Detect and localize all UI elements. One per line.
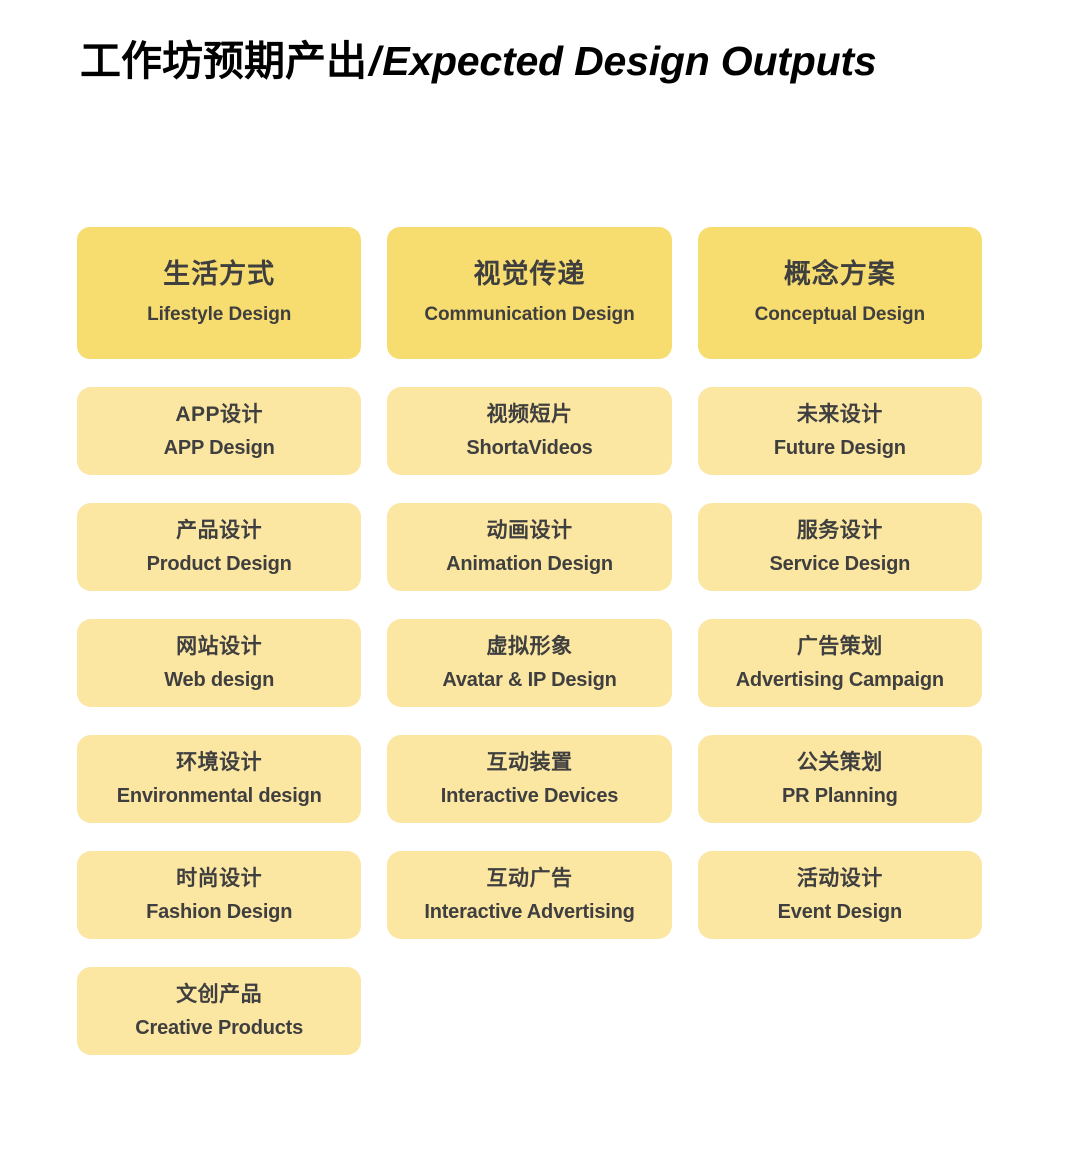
column-lifestyle-design: 生活方式 Lifestyle Design APP设计 APP Design 产… [77, 227, 361, 1055]
output-card-web-design[interactable]: 网站设计 Web design [77, 619, 361, 707]
output-card-creative-products[interactable]: 文创产品 Creative Products [77, 967, 361, 1055]
card-title-en: Environmental design [117, 785, 322, 807]
card-title-zh: APP设计 [175, 403, 263, 426]
card-title-zh: 动画设计 [486, 519, 572, 542]
output-card-event-design[interactable]: 活动设计 Event Design [698, 851, 982, 939]
column-header-card-lifestyle[interactable]: 生活方式 Lifestyle Design [77, 227, 361, 359]
card-title-zh: 视频短片 [486, 403, 572, 426]
output-card-service-design[interactable]: 服务设计 Service Design [698, 503, 982, 591]
output-card-animation-design[interactable]: 动画设计 Animation Design [387, 503, 671, 591]
card-title-en: Avatar & IP Design [442, 669, 616, 691]
card-title-en: Future Design [774, 437, 906, 459]
card-title-en: PR Planning [782, 785, 898, 807]
page-title-en: Expected Design Outputs [382, 38, 876, 84]
card-title-en: Advertising Campaign [736, 669, 944, 691]
column-header-card-communication[interactable]: 视觉传递 Communication Design [387, 227, 671, 359]
card-title-zh: 网站设计 [176, 635, 262, 658]
card-title-zh: 广告策划 [797, 635, 883, 658]
output-card-future-design[interactable]: 未来设计 Future Design [698, 387, 982, 475]
card-title-en: Creative Products [135, 1017, 303, 1039]
page-title-zh: 工作坊预期产出 [80, 38, 367, 84]
output-card-interactive-advertising[interactable]: 互动广告 Interactive Advertising [387, 851, 671, 939]
output-card-avatar-ip-design[interactable]: 虚拟形象 Avatar & IP Design [387, 619, 671, 707]
output-card-app-design[interactable]: APP设计 APP Design [77, 387, 361, 475]
card-title-zh: 公关策划 [797, 751, 883, 774]
card-title-en: Fashion Design [146, 901, 292, 923]
output-card-product-design[interactable]: 产品设计 Product Design [77, 503, 361, 591]
card-title-en: APP Design [164, 437, 275, 459]
card-title-zh: 互动广告 [486, 867, 572, 890]
card-title-zh: 视觉传递 [473, 260, 585, 290]
card-title-en: ShortaVideos [466, 437, 592, 459]
card-title-en: Communication Design [424, 305, 634, 326]
card-title-en: Conceptual Design [755, 305, 925, 326]
card-title-zh: 虚拟形象 [486, 635, 572, 658]
card-title-en: Lifestyle Design [147, 305, 291, 326]
card-title-zh: 活动设计 [797, 867, 883, 890]
column-communication-design: 视觉传递 Communication Design 视频短片 ShortaVid… [387, 227, 671, 939]
card-title-en: Event Design [778, 901, 902, 923]
card-title-en: Web design [164, 669, 274, 691]
columns-container: 生活方式 Lifestyle Design APP设计 APP Design 产… [77, 227, 982, 1055]
column-conceptual-design: 概念方案 Conceptual Design 未来设计 Future Desig… [698, 227, 982, 939]
card-title-zh: 时尚设计 [176, 867, 262, 890]
card-title-zh: 未来设计 [797, 403, 883, 426]
slide-canvas: 工作坊预期产出/Expected Design Outputs 生活方式 Lif… [0, 0, 1080, 1171]
card-title-zh: 产品设计 [176, 519, 262, 542]
card-title-zh: 文创产品 [176, 983, 262, 1006]
card-title-zh: 环境设计 [176, 751, 262, 774]
column-header-card-conceptual[interactable]: 概念方案 Conceptual Design [698, 227, 982, 359]
output-card-environmental-design[interactable]: 环境设计 Environmental design [77, 735, 361, 823]
output-card-interactive-devices[interactable]: 互动装置 Interactive Devices [387, 735, 671, 823]
page-title-separator: / [367, 38, 382, 84]
output-card-short-videos[interactable]: 视频短片 ShortaVideos [387, 387, 671, 475]
card-title-zh: 互动装置 [486, 751, 572, 774]
page-title: 工作坊预期产出/Expected Design Outputs [80, 36, 877, 87]
card-title-zh: 生活方式 [163, 260, 275, 290]
card-title-en: Interactive Devices [441, 785, 618, 807]
card-title-zh: 服务设计 [797, 519, 883, 542]
card-title-zh: 概念方案 [784, 260, 896, 290]
output-card-fashion-design[interactable]: 时尚设计 Fashion Design [77, 851, 361, 939]
card-title-en: Product Design [147, 553, 292, 575]
outputs-board: 生活方式 Lifestyle Design APP设计 APP Design 产… [77, 227, 982, 1055]
card-title-en: Interactive Advertising [424, 901, 634, 923]
output-card-advertising-campaign[interactable]: 广告策划 Advertising Campaign [698, 619, 982, 707]
output-card-pr-planning[interactable]: 公关策划 PR Planning [698, 735, 982, 823]
card-title-en: Service Design [770, 553, 911, 575]
card-title-en: Animation Design [446, 553, 613, 575]
